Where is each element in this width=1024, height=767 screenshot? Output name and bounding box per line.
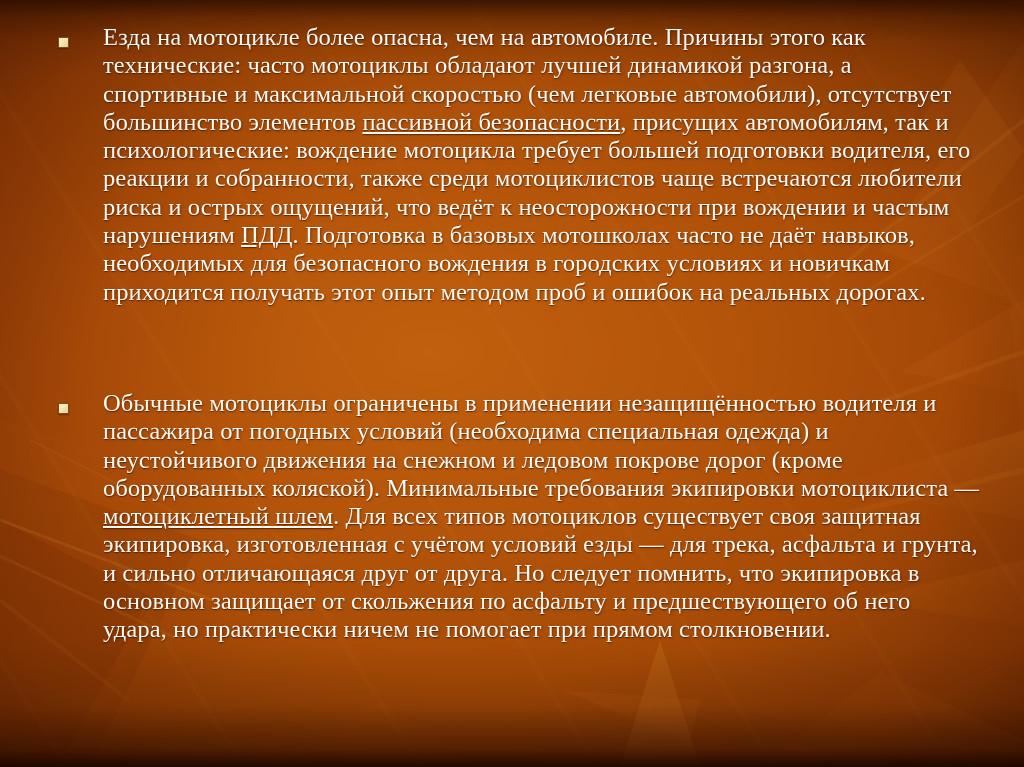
underlined-term[interactable]: мотоциклетный шлем: [103, 503, 333, 530]
text-run: Обычные мотоциклы ограничены в применени…: [103, 390, 979, 502]
bullet-item-2: Обычные мотоциклы ограничены в применени…: [58, 390, 980, 645]
square-bullet-icon: [58, 37, 69, 48]
underlined-term[interactable]: ПДД: [241, 222, 292, 249]
bullet-item-1: Езда на мотоцикле более опасна, чем на а…: [58, 24, 980, 307]
bullet-paragraph-2: Обычные мотоциклы ограничены в применени…: [103, 390, 980, 645]
square-bullet-icon: [58, 403, 69, 414]
underlined-term[interactable]: пассивной безопасности: [362, 109, 620, 136]
slide-content: Езда на мотоцикле более опасна, чем на а…: [0, 0, 1024, 767]
bullet-paragraph-1: Езда на мотоцикле более опасна, чем на а…: [103, 24, 980, 307]
presentation-slide: Езда на мотоцикле более опасна, чем на а…: [0, 0, 1024, 767]
